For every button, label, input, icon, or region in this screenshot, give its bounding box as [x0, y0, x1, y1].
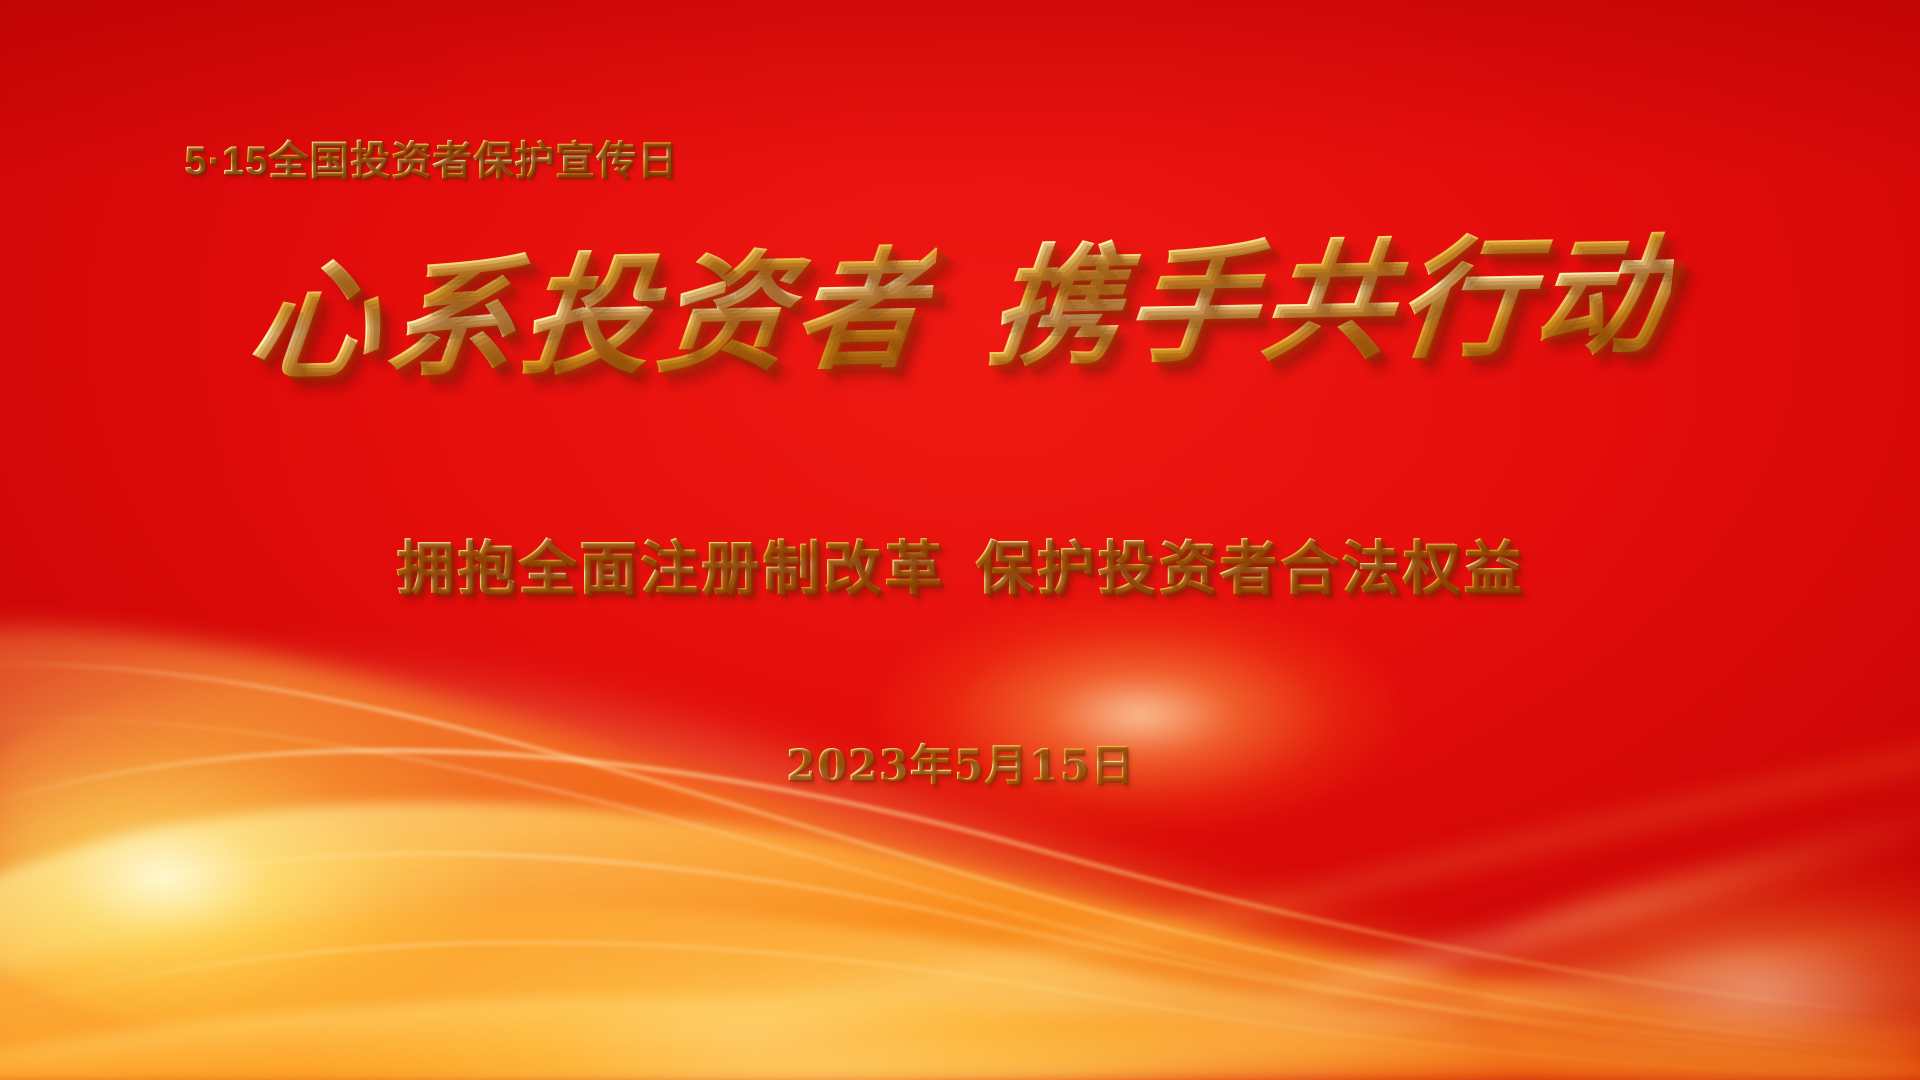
- headline-spacer: [926, 353, 985, 354]
- event-eyebrow: 5·15全国投资者保护宣传日: [184, 141, 678, 181]
- headline-part-2: 携手共行动: [981, 218, 1678, 384]
- headline-part-1: 心系投资者: [241, 233, 938, 399]
- poster-canvas: 5·15全国投资者保护宣传日 心系投资者携手共行动 拥抱全面注册制改革保护投资者…: [0, 0, 1920, 1080]
- poster-date: 2023年5月15日: [0, 745, 1920, 788]
- event-eyebrow-text: 5·15全国投资者保护宣传日: [184, 139, 678, 183]
- subtitle-part-2: 保护投资者合法权益: [975, 536, 1524, 601]
- subtitle-part-1: 拥抱全面注册制改革: [396, 536, 945, 601]
- poster-date-text: 2023年5月15日: [786, 741, 1134, 791]
- poster-headline: 心系投资者携手共行动: [0, 225, 1920, 394]
- poster-content: 5·15全国投资者保护宣传日 心系投资者携手共行动 拥抱全面注册制改革保护投资者…: [0, 0, 1920, 1080]
- poster-subtitle: 拥抱全面注册制改革保护投资者合法权益: [0, 540, 1920, 598]
